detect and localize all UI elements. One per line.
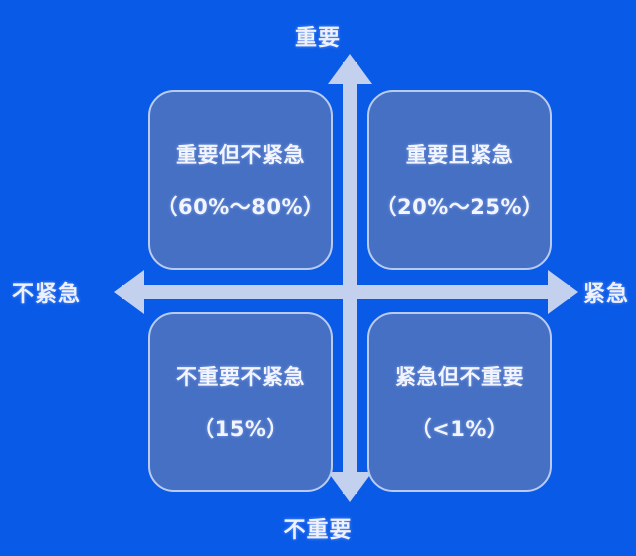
axis-label-important: 重要: [0, 20, 636, 52]
eisenhower-matrix-diagram: 重要 不重要 不紧急 紧急 重要但不紧急 （60%～80%） 重要且紧急 （20…: [0, 0, 636, 556]
quadrant-card-not-important-not-urgent[interactable]: 不重要不紧急 （15%）: [148, 312, 333, 492]
quadrant-card-important-not-urgent[interactable]: 重要但不紧急 （60%～80%）: [148, 90, 333, 270]
quadrant-card-important-and-urgent[interactable]: 重要且紧急 （20%～25%）: [367, 90, 552, 270]
vertical-axis-icon: [328, 54, 372, 502]
axis-label-urgent: 紧急: [583, 276, 629, 308]
quadrant-title: 重要但不紧急: [176, 139, 305, 169]
quadrant-value: （15%）: [193, 413, 288, 443]
quadrant-value: （60%～80%）: [156, 191, 324, 221]
horizontal-axis-icon: [114, 270, 578, 314]
quadrant-value: （20%～25%）: [375, 191, 543, 221]
quadrant-title: 紧急但不重要: [395, 361, 524, 391]
quadrant-value: （<1%）: [411, 413, 509, 443]
quadrant-title: 重要且紧急: [406, 139, 514, 169]
axis-label-not-important: 不重要: [0, 512, 636, 544]
quadrant-title: 不重要不紧急: [176, 361, 305, 391]
quadrant-card-urgent-not-important[interactable]: 紧急但不重要 （<1%）: [367, 312, 552, 492]
axis-label-not-urgent: 不紧急: [12, 276, 81, 308]
